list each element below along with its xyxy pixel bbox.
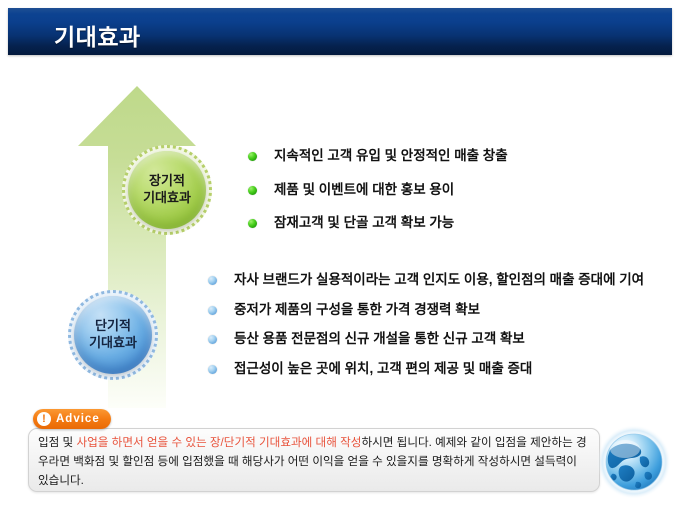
short-term-badge: 단기적 기대효과 xyxy=(68,290,158,380)
list-item: 접근성이 높은 곳에 위치, 고객 편의 제공 및 매출 증대 xyxy=(208,359,668,380)
long-term-badge: 장기적 기대효과 xyxy=(122,145,212,235)
long-term-badge-line2: 기대효과 xyxy=(143,190,191,207)
list-item: 지속적인 고객 유입 및 안정적인 매출 창출 xyxy=(248,146,668,167)
list-item-label: 자사 브랜드가 실용적이라는 고객 인지도 이용, 할인점의 매출 증대에 기여 xyxy=(234,272,644,287)
blue-bullet-icon xyxy=(208,365,217,374)
list-item: 제품 및 이벤트에 대한 홍보 용이 xyxy=(248,180,668,201)
list-item: 잠재고객 및 단골 고객 확보 가능 xyxy=(248,213,668,234)
advice-badge-label: Advice xyxy=(56,413,100,425)
advice-text-highlight: 사업을 하면서 얻을 수 있는 장/단기적 기대효과에 대해 작성 xyxy=(76,436,361,449)
green-bullet-icon xyxy=(248,219,257,228)
list-item-label: 잠재고객 및 단골 고객 확보 가능 xyxy=(274,215,454,230)
long-term-badge-line1: 장기적 xyxy=(149,173,185,190)
list-item: 중저가 제품의 구성을 통한 가격 경쟁력 확보 xyxy=(208,300,668,321)
short-term-badge-line2: 기대효과 xyxy=(89,335,137,352)
blue-bullet-icon xyxy=(208,306,217,315)
advice-badge: ! Advice xyxy=(33,409,111,429)
blue-bullet-icon xyxy=(208,276,217,285)
list-item-label: 접근성이 높은 곳에 위치, 고객 편의 제공 및 매출 증대 xyxy=(234,361,532,376)
short-term-bullet-list: 자사 브랜드가 실용적이라는 고객 인지도 이용, 할인점의 매출 증대에 기여… xyxy=(208,270,668,388)
list-item: 자사 브랜드가 실용적이라는 고객 인지도 이용, 할인점의 매출 증대에 기여 xyxy=(208,270,668,291)
short-term-badge-line1: 단기적 xyxy=(95,318,131,335)
advice-text: 입점 및 사업을 하면서 얻을 수 있는 장/단기적 기대효과에 대해 작성하시… xyxy=(38,434,590,490)
short-term-badge-face: 단기적 기대효과 xyxy=(74,296,152,374)
long-term-badge-face: 장기적 기대효과 xyxy=(128,151,206,229)
green-bullet-icon xyxy=(248,152,257,161)
list-item-label: 중저가 제품의 구성을 통한 가격 경쟁력 확보 xyxy=(234,302,480,317)
slide-title-bar: 기대효과 xyxy=(8,8,672,55)
list-item-label: 제품 및 이벤트에 대한 홍보 용이 xyxy=(274,182,454,197)
advice-text-part1: 입점 및 xyxy=(38,436,76,449)
page-title: 기대효과 xyxy=(54,18,141,52)
list-item-label: 등산 용품 전문점의 신규 개설을 통한 신규 고객 확보 xyxy=(234,331,525,346)
list-item-label: 지속적인 고객 유입 및 안정적인 매출 창출 xyxy=(274,148,508,163)
slide-canvas: 기대효과 장기적 기대효과 xyxy=(0,0,680,510)
globe-icon xyxy=(596,424,672,500)
list-item: 등산 용품 전문점의 신규 개설을 통한 신규 고객 확보 xyxy=(208,329,668,350)
blue-bullet-icon xyxy=(208,335,217,344)
long-term-bullet-list: 지속적인 고객 유입 및 안정적인 매출 창출 제품 및 이벤트에 대한 홍보 … xyxy=(248,146,668,247)
exclamation-icon: ! xyxy=(37,412,51,426)
green-bullet-icon xyxy=(248,186,257,195)
